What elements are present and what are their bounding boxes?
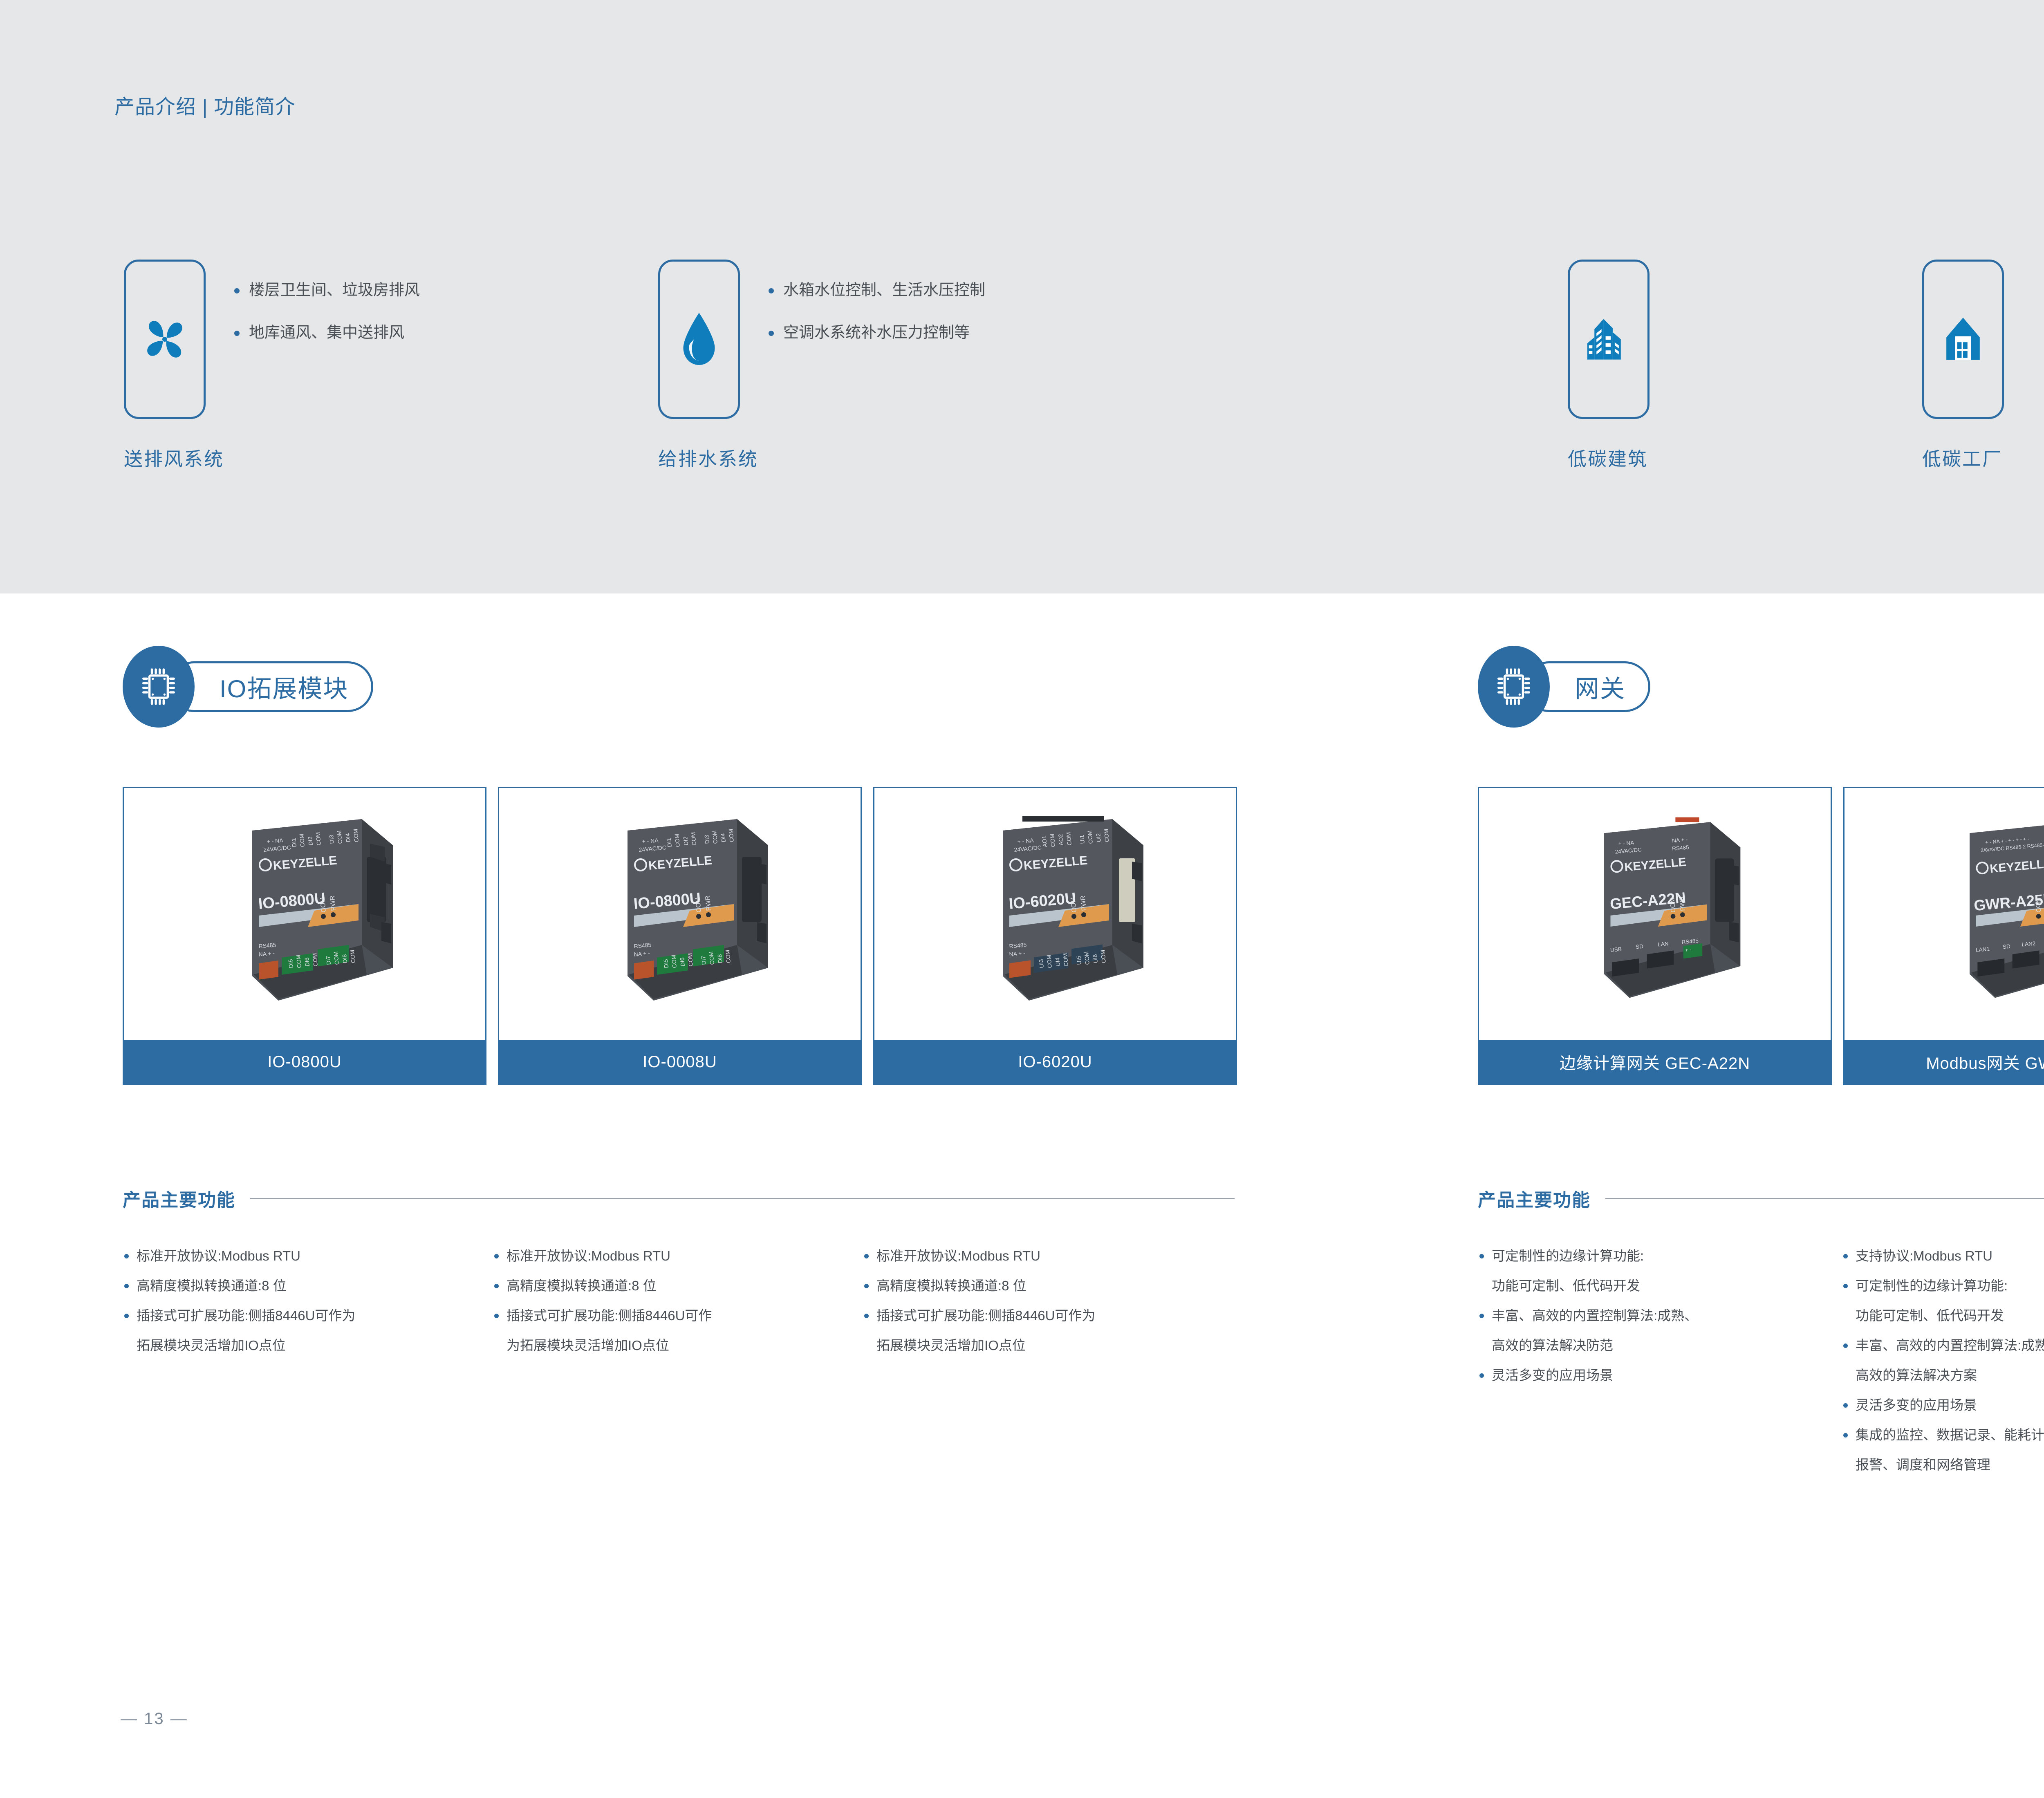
- scenario-low-carbon-factory: 低碳工厂: [1922, 260, 2004, 471]
- scenario-label: 给排水系统: [658, 444, 758, 471]
- svg-text:PWR: PWR: [329, 895, 337, 911]
- svg-text:DI8: DI8: [341, 954, 348, 963]
- feature-line: 高效的算法解决防范: [1492, 1339, 1842, 1352]
- feature-item: 插接式可扩展功能:侧插8446U可作为 拓展模块灵活增加IO点位: [863, 1309, 1233, 1352]
- svg-text:DI4: DI4: [719, 833, 727, 842]
- fan-icon: [140, 315, 189, 364]
- feature-item: 插接式可扩展功能:侧插8446U可作 为拓展模块灵活增加IO点位: [493, 1309, 863, 1352]
- features-column: 标准开放协议:Modbus RTU 高精度模拟转换通道:8 位 插接式可扩展功能…: [123, 1249, 493, 1368]
- feature-item: 标准开放协议:Modbus RTU: [123, 1249, 493, 1263]
- svg-text:DI3: DI3: [703, 835, 710, 844]
- product-card-row-gateway: + - NA 24VAC/DC NA + - RS485 USB SD LAN …: [1478, 787, 2044, 1085]
- product-card[interactable]: + - NA 24VAC/DC AO1 COM AO2 COM UI1 COM …: [873, 787, 1237, 1085]
- features-column: 标准开放协议:Modbus RTU 高精度模拟转换通道:8 位 插接式可扩展功能…: [493, 1249, 863, 1368]
- feature-item: 灵活多变的应用场景: [1842, 1398, 2044, 1412]
- feature-line: 灵活多变的应用场景: [1856, 1398, 2044, 1412]
- features-heading: 产品主要功能: [1478, 1185, 2044, 1211]
- svg-text:COM: COM: [352, 828, 360, 842]
- svg-text:DI2: DI2: [682, 836, 689, 846]
- scenario-bullet: 楼层卫生间、垃圾房排风: [231, 282, 420, 298]
- device-photo-io-0008u: + - NA 24VAC/DC DI1 COM DI2 COM DI3 COM …: [549, 808, 811, 1020]
- product-caption: Modbus网关 GWR-A25N: [1845, 1040, 2044, 1084]
- svg-text:DI6: DI6: [679, 957, 686, 967]
- device-photo-io-0800u: + - NA 24VAC/DC DI1 COM DI2 COM DI3 COM …: [174, 808, 435, 1020]
- page-number-left: — 13 —: [121, 1710, 188, 1728]
- section-title-text: 网关: [1575, 669, 1625, 705]
- feature-item: 标准开放协议:Modbus RTU: [863, 1249, 1233, 1263]
- svg-text:COM: COM: [1103, 828, 1110, 842]
- product-image: + - NA 24VAC/DC DI1 COM DI2 COM DI3 COM …: [499, 788, 861, 1040]
- scenario-icon-tile: [1922, 260, 2004, 419]
- svg-text:UI1: UI1: [1078, 835, 1086, 844]
- features-heading: 产品主要功能: [123, 1185, 1235, 1211]
- svg-text:COM: COM: [1086, 830, 1094, 844]
- section-title-text: IO拓展模块: [220, 669, 348, 705]
- feature-line: 集成的监控、数据记录、能耗计量、: [1856, 1428, 2044, 1442]
- feature-line: 高效的算法解决方案: [1856, 1368, 2044, 1382]
- feature-line: 可定制性的边缘计算功能:: [1492, 1249, 1842, 1263]
- feature-line: 丰富、高效的内置控制算法:成熟、: [1492, 1309, 1842, 1322]
- svg-text:COM: COM: [336, 830, 343, 844]
- product-image: + - NA + - + - + - + - 2AVAV/DC RS485-2 …: [1845, 788, 2044, 1040]
- chip-icon: [1493, 664, 1535, 710]
- svg-text:AO2: AO2: [1057, 834, 1065, 846]
- features-title: 产品主要功能: [1478, 1185, 1591, 1211]
- feature-item: 丰富、高效的内置控制算法:成熟、 高效的算法解决防范: [1478, 1309, 1842, 1352]
- heading-rule: [250, 1198, 1235, 1199]
- feature-item: 灵活多变的应用场景: [1478, 1368, 1842, 1382]
- svg-text:COM: COM: [1049, 833, 1056, 847]
- chip-icon-badge: [1478, 646, 1550, 728]
- svg-text:COM: COM: [332, 951, 340, 965]
- features-columns: 可定制性的边缘计算功能: 功能可定制、低代码开发 丰富、高效的内置控制算法:成熟…: [1478, 1249, 2044, 1488]
- features-columns: 标准开放协议:Modbus RTU 高精度模拟转换通道:8 位 插接式可扩展功能…: [123, 1249, 1235, 1368]
- svg-text:UI3: UI3: [1038, 959, 1045, 968]
- scenario-bullet: 空调水系统补水压力控制等: [765, 325, 985, 340]
- svg-text:NA + -: NA + -: [634, 950, 650, 958]
- svg-text:DI6: DI6: [303, 957, 311, 967]
- product-card[interactable]: + - NA 24VAC/DC DI1 COM DI2 COM DI3 COM …: [498, 787, 862, 1085]
- product-caption: 边缘计算网关 GEC-A22N: [1479, 1040, 1831, 1084]
- svg-text:COM: COM: [298, 833, 306, 847]
- svg-text:COM: COM: [314, 832, 322, 846]
- feature-line: 支持协议:Modbus RTU: [1856, 1249, 2044, 1263]
- product-image: + - NA 24VAC/DC NA + - RS485 USB SD LAN …: [1479, 788, 1831, 1040]
- scenario-bullet: 水箱水位控制、生活水压控制: [765, 282, 985, 298]
- scenario-ventilation: 楼层卫生间、垃圾房排风 地库通风、集中送排风 送排风系统: [124, 260, 420, 471]
- svg-text:COM: COM: [708, 951, 715, 965]
- svg-text:AO1: AO1: [1041, 835, 1048, 848]
- features-column: 标准开放协议:Modbus RTU 高精度模拟转换通道:8 位 插接式可扩展功能…: [863, 1249, 1233, 1368]
- feature-item: 高精度模拟转换通道:8 位: [493, 1279, 863, 1292]
- svg-text:COM: COM: [724, 949, 732, 963]
- feature-line: 为拓展模块灵活增加IO点位: [507, 1339, 863, 1352]
- svg-text:UI5: UI5: [1075, 956, 1083, 965]
- device-photo-gwr-a25n: + - NA + - + - + - + - 2AVAV/DC RS485-2 …: [1894, 808, 2044, 1020]
- scenario-low-carbon-building: 低碳建筑: [1568, 260, 1650, 471]
- svg-text:DI7: DI7: [325, 956, 332, 965]
- feature-line: 插接式可扩展功能:侧插8446U可作为: [137, 1309, 493, 1322]
- chip-icon: [137, 664, 180, 710]
- svg-text:NA + -: NA + -: [1009, 950, 1026, 958]
- office-building-icon: [1583, 313, 1634, 365]
- svg-text:COM: COM: [1045, 954, 1053, 968]
- page-header-left: 产品介绍 | 功能简介: [114, 91, 296, 120]
- scenario-bullet-list: 楼层卫生间、垃圾房排风 地库通风、集中送排风: [231, 282, 420, 367]
- svg-text:DI2: DI2: [307, 836, 314, 846]
- svg-text:+ -: + -: [1685, 947, 1692, 953]
- feature-line: 高精度模拟转换通道:8 位: [876, 1279, 1233, 1292]
- heading-rule: [1605, 1198, 2044, 1199]
- svg-text:COM: COM: [311, 953, 319, 967]
- features-column: 支持协议:Modbus RTU 可定制性的边缘计算功能: 功能可定制、低代码开发…: [1842, 1249, 2044, 1488]
- feature-line: 拓展模块灵活增加IO点位: [876, 1339, 1233, 1352]
- water-drop-icon: [675, 311, 723, 368]
- feature-line: 灵活多变的应用场景: [1492, 1368, 1842, 1382]
- section-title-pill: IO拓展模块: [168, 661, 373, 712]
- feature-line: 报警、调度和网络管理: [1856, 1458, 2044, 1471]
- scenario-label: 送排风系统: [124, 444, 224, 471]
- device-photo-io-6020u: + - NA 24VAC/DC AO1 COM AO2 COM UI1 COM …: [924, 808, 1186, 1020]
- device-photo-gec-a22n: + - NA 24VAC/DC NA + - RS485 USB SD LAN …: [1528, 808, 1782, 1020]
- svg-text:NA + -: NA + -: [258, 950, 275, 958]
- features-block-gateway: 产品主要功能 可定制性的边缘计算功能: 功能可定制、低代码开发 丰富、高效的内置…: [1478, 1185, 2044, 1488]
- feature-item: 可定制性的边缘计算功能: 功能可定制、低代码开发: [1842, 1279, 2044, 1322]
- svg-text:COM: COM: [686, 953, 694, 967]
- feature-line: 功能可定制、低代码开发: [1856, 1309, 2044, 1322]
- feature-item: 集成的监控、数据记录、能耗计量、 报警、调度和网络管理: [1842, 1428, 2044, 1471]
- svg-text:DI1: DI1: [290, 838, 298, 847]
- feature-line: 丰富、高效的内置控制算法:成熟、: [1856, 1339, 2044, 1352]
- feature-line: 插接式可扩展功能:侧插8446U可作为: [876, 1309, 1233, 1322]
- svg-text:COM: COM: [1099, 949, 1107, 963]
- svg-text:COM: COM: [1062, 953, 1069, 967]
- product-card[interactable]: + - NA 24VAC/DC NA + - RS485 USB SD LAN …: [1478, 787, 1832, 1085]
- svg-text:COM: COM: [295, 954, 303, 968]
- product-card[interactable]: + - NA + - + - + - + - 2AVAV/DC RS485-2 …: [1843, 787, 2044, 1085]
- feature-item: 高精度模拟转换通道:8 位: [863, 1279, 1233, 1292]
- feature-item: 标准开放协议:Modbus RTU: [493, 1249, 863, 1263]
- section-title-io-modules: IO拓展模块: [123, 646, 373, 728]
- svg-text:LAN1: LAN1: [1975, 946, 1990, 953]
- svg-text:COM: COM: [670, 954, 678, 968]
- svg-text:DI7: DI7: [700, 956, 707, 965]
- svg-text:UI4: UI4: [1054, 957, 1061, 967]
- svg-text:COM: COM: [673, 833, 681, 847]
- feature-line: 高精度模拟转换通道:8 位: [507, 1279, 863, 1292]
- feature-item: 可定制性的边缘计算功能: 功能可定制、低代码开发: [1478, 1249, 1842, 1292]
- features-column: 可定制性的边缘计算功能: 功能可定制、低代码开发 丰富、高效的内置控制算法:成熟…: [1478, 1249, 1842, 1488]
- feature-line: 高精度模拟转换通道:8 位: [137, 1279, 493, 1292]
- svg-text:PWR: PWR: [1080, 895, 1088, 911]
- product-image: + - NA 24VAC/DC DI1 COM DI2 COM DI3 COM …: [124, 788, 485, 1040]
- scenario-icon-tile: [658, 260, 740, 419]
- feature-item: 支持协议:Modbus RTU: [1842, 1249, 2044, 1263]
- svg-text:LAN: LAN: [1658, 940, 1669, 947]
- svg-text:USB: USB: [1610, 946, 1622, 953]
- scenario-bullet: 地库通风、集中送排风: [231, 325, 420, 340]
- svg-text:SD: SD: [2002, 943, 2010, 950]
- feature-line: 标准开放协议:Modbus RTU: [507, 1249, 863, 1263]
- feature-line: 拓展模块灵活增加IO点位: [137, 1339, 493, 1352]
- product-caption: IO-6020U: [874, 1040, 1236, 1084]
- svg-text:COM: COM: [1083, 951, 1091, 965]
- feature-line: 功能可定制、低代码开发: [1492, 1279, 1842, 1292]
- features-block-io: 产品主要功能 标准开放协议:Modbus RTU 高精度模拟转换通道:8 位 插…: [123, 1185, 1235, 1368]
- scenario-icon-tile: [124, 260, 206, 419]
- product-card[interactable]: + - NA 24VAC/DC DI1 COM DI2 COM DI3 COM …: [123, 787, 486, 1085]
- feature-line: 可定制性的边缘计算功能:: [1856, 1279, 2044, 1292]
- factory-icon: [1939, 313, 1988, 365]
- scenario-bullet-list: 水箱水位控制、生活水压控制 空调水系统补水压力控制等: [765, 282, 985, 367]
- product-card-row-io: + - NA 24VAC/DC DI1 COM DI2 COM DI3 COM …: [123, 787, 1237, 1085]
- svg-text:LAN2: LAN2: [2022, 940, 2036, 948]
- product-caption: IO-0800U: [124, 1040, 485, 1084]
- svg-text:DI5: DI5: [287, 959, 294, 968]
- feature-item: 高精度模拟转换通道:8 位: [123, 1279, 493, 1292]
- svg-text:DI1: DI1: [666, 838, 673, 847]
- scenario-icon-tile: [1568, 260, 1650, 419]
- feature-line: 标准开放协议:Modbus RTU: [876, 1249, 1233, 1263]
- product-image: + - NA 24VAC/DC AO1 COM AO2 COM UI1 COM …: [874, 788, 1236, 1040]
- svg-text:DI4: DI4: [344, 833, 352, 842]
- svg-text:DI5: DI5: [662, 959, 670, 968]
- scenario-label: 低碳建筑: [1568, 444, 1648, 471]
- features-title: 产品主要功能: [123, 1185, 235, 1211]
- svg-text:COM: COM: [727, 828, 735, 842]
- chip-icon-badge: [123, 646, 195, 728]
- feature-line: 标准开放协议:Modbus RTU: [137, 1249, 493, 1263]
- svg-text:COM: COM: [1065, 832, 1073, 846]
- svg-text:UI2: UI2: [1095, 833, 1102, 842]
- scenario-label: 低碳工厂: [1922, 444, 2002, 471]
- svg-text:UI6: UI6: [1091, 954, 1099, 963]
- svg-text:COM: COM: [711, 830, 719, 844]
- svg-text:DI3: DI3: [328, 835, 335, 844]
- svg-text:SD: SD: [1635, 943, 1643, 950]
- feature-item: 插接式可扩展功能:侧插8446U可作为 拓展模块灵活增加IO点位: [123, 1309, 493, 1352]
- svg-text:PWR: PWR: [704, 895, 713, 911]
- feature-item: 丰富、高效的内置控制算法:成熟、 高效的算法解决方案: [1842, 1339, 2044, 1382]
- product-caption: IO-0008U: [499, 1040, 861, 1084]
- svg-text:DI8: DI8: [716, 954, 724, 963]
- svg-text:COM: COM: [690, 832, 697, 846]
- svg-text:COM: COM: [349, 949, 356, 963]
- scenario-water-supply: 水箱水位控制、生活水压控制 空调水系统补水压力控制等 给排水系统: [658, 260, 985, 471]
- feature-line: 插接式可扩展功能:侧插8446U可作: [507, 1309, 863, 1322]
- section-title-gateways: 网关: [1478, 646, 1650, 728]
